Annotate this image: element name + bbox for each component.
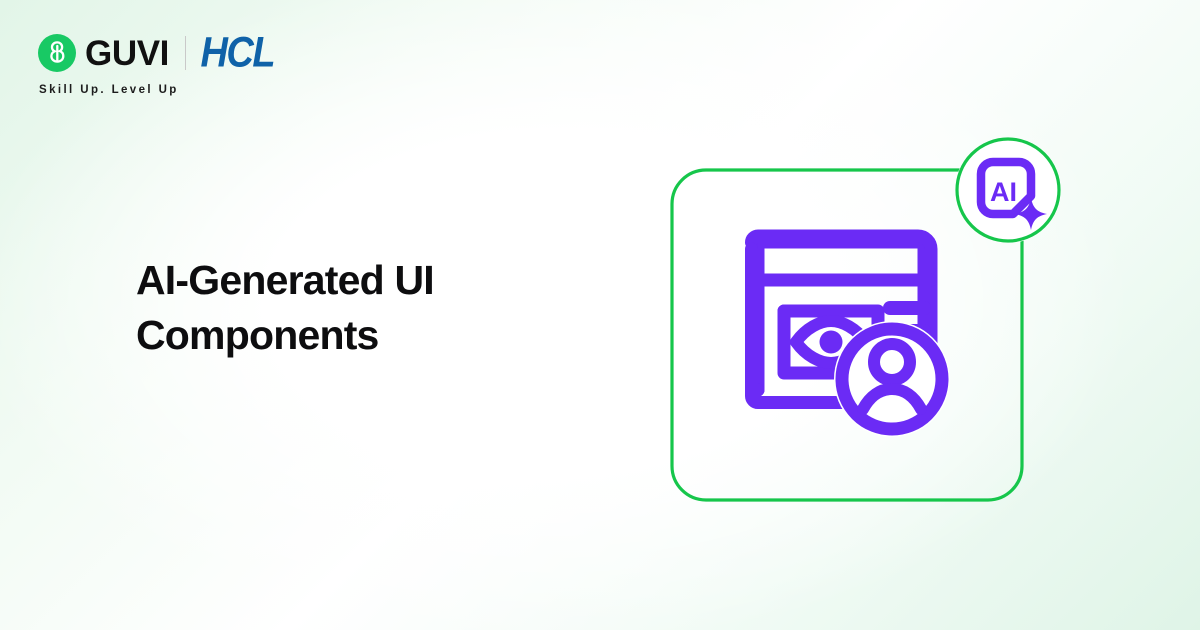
banner-canvas: GUVI HCL Skill Up. Level Up AI-Generated… — [0, 0, 1200, 630]
guvi-wordmark: GUVI — [85, 36, 169, 71]
ai-badge-label: AI — [990, 177, 1017, 207]
brand-tagline: Skill Up. Level Up — [39, 84, 378, 96]
brand-divider — [185, 36, 187, 70]
brand-lockup: GUVI HCL Skill Up. Level Up — [38, 30, 378, 96]
ai-badge-icon: AI — [955, 137, 1061, 243]
hero-illustration: AI — [650, 118, 1080, 508]
text-line-icon — [883, 301, 931, 315]
guvi-g-circle-icon — [38, 34, 76, 72]
hcl-wordmark: HCL — [200, 32, 274, 75]
illustration-svg: AI — [650, 118, 1080, 508]
brand-row: GUVI HCL — [38, 30, 378, 76]
page-title: AI-Generated UI Components — [136, 253, 566, 362]
